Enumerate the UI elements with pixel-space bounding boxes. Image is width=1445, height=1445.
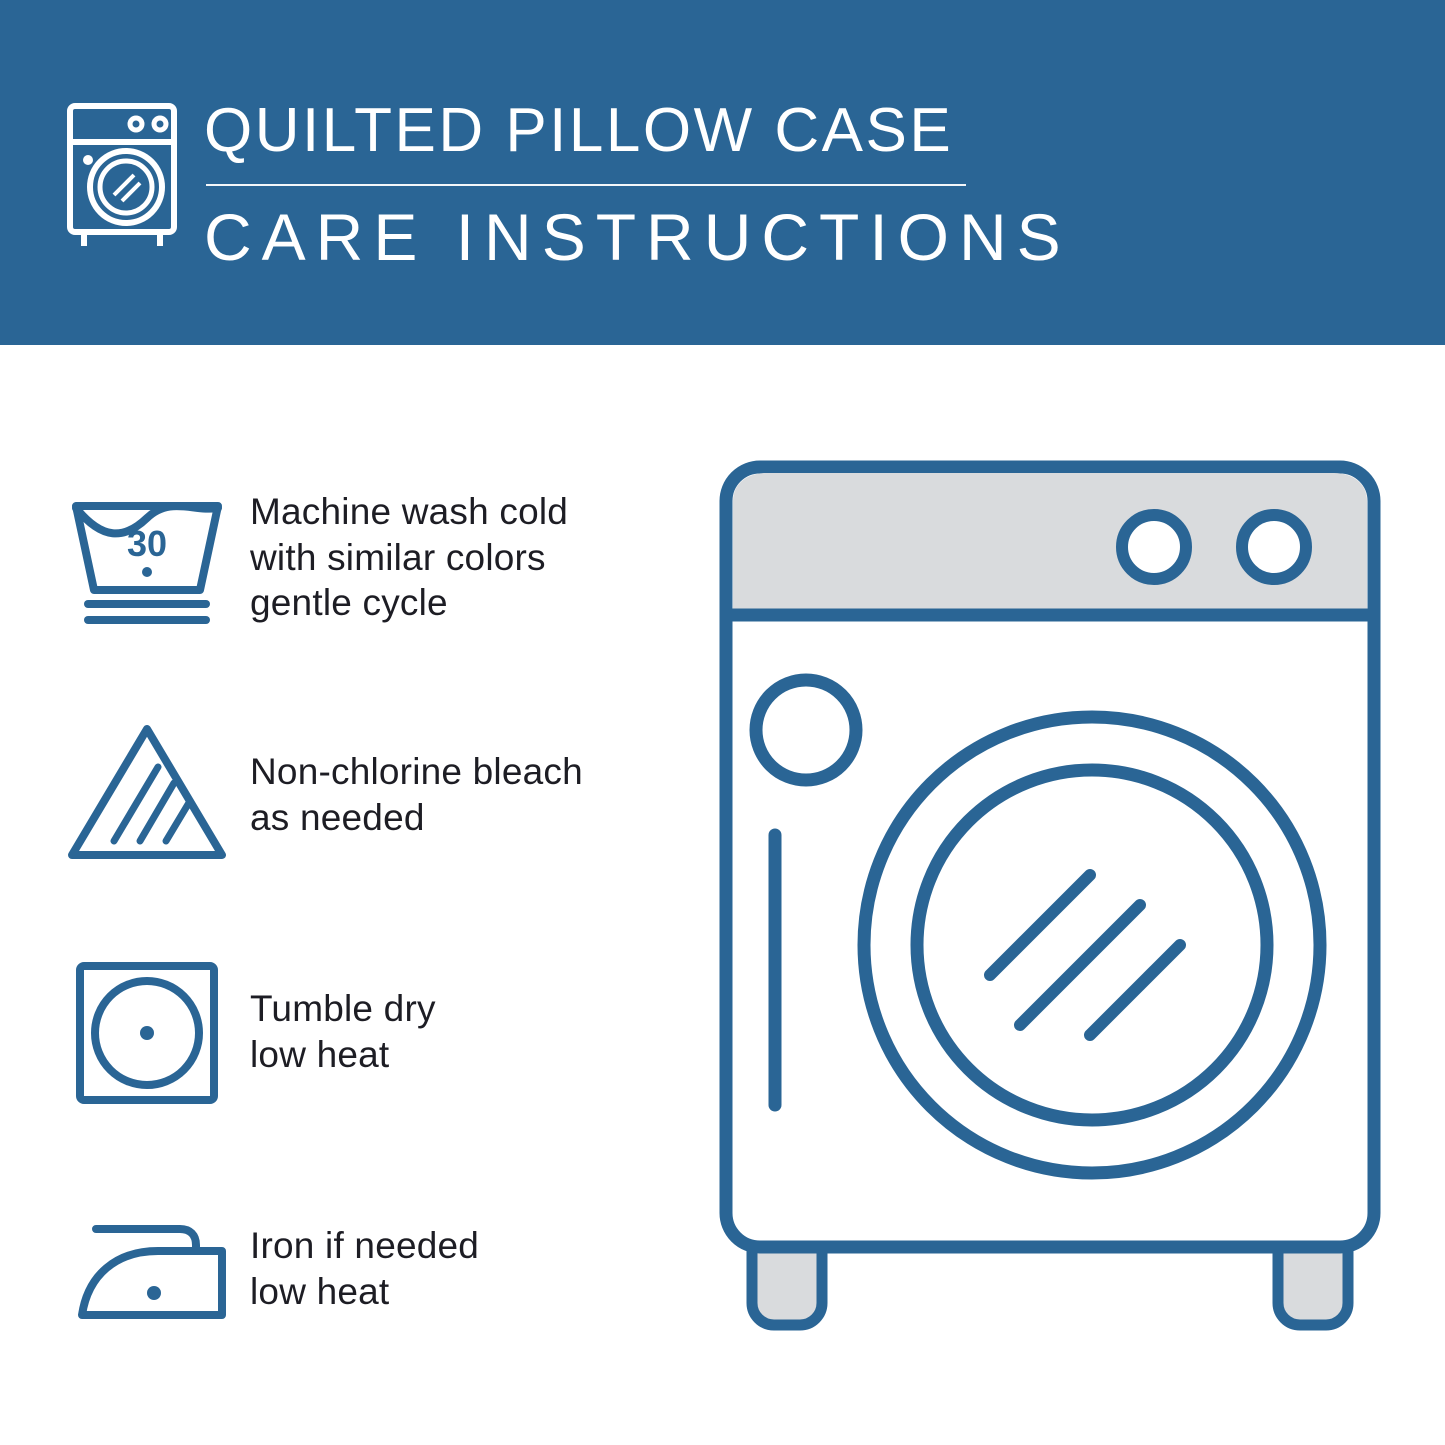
care-label-line: low heat <box>250 1269 479 1315</box>
page-subtitle: CARE INSTRUCTIONS <box>204 204 1071 270</box>
header-banner: QUILTED PILLOW CASE CARE INSTRUCTIONS <box>0 0 1445 345</box>
care-label-line: low heat <box>250 1032 436 1078</box>
detergent-knob <box>756 680 856 780</box>
header-titles: QUILTED PILLOW CASE CARE INSTRUCTIONS <box>204 92 1071 270</box>
title-divider <box>206 184 966 186</box>
care-label-line: Tumble dry <box>250 986 436 1032</box>
iron-icon <box>62 1186 232 1351</box>
care-label-line: as needed <box>250 795 583 841</box>
control-dial-right <box>1242 515 1306 579</box>
care-row-tumble-dry: Tumble dry low heat <box>62 949 702 1114</box>
care-label-line: Iron if needed <box>250 1223 479 1269</box>
header-content: QUILTED PILLOW CASE CARE INSTRUCTIONS <box>62 92 1071 270</box>
tumble-dry-icon <box>62 949 232 1114</box>
care-row-machine-wash: 30 Machine wash cold with similar colors… <box>62 475 702 640</box>
washing-machine-illustration <box>700 455 1400 1355</box>
care-label-line: with similar colors <box>250 535 568 581</box>
care-label-line: Machine wash cold <box>250 489 568 535</box>
care-label-tumble-dry: Tumble dry low heat <box>250 986 436 1077</box>
care-label-iron: Iron if needed low heat <box>250 1223 479 1314</box>
care-label-bleach: Non-chlorine bleach as needed <box>250 749 583 840</box>
body-area: 30 Machine wash cold with similar colors… <box>0 345 1445 1445</box>
wash-temperature-label: 30 <box>127 523 167 564</box>
control-dial-left <box>1122 515 1186 579</box>
care-label-line: gentle cycle <box>250 580 568 626</box>
washing-machine-icon <box>62 92 182 252</box>
wash-tub-icon: 30 <box>62 475 232 640</box>
care-label-line: Non-chlorine bleach <box>250 749 583 795</box>
care-label-machine-wash: Machine wash cold with similar colors ge… <box>250 489 568 626</box>
page-title: QUILTED PILLOW CASE <box>204 100 1071 162</box>
bleach-triangle-icon <box>62 712 232 877</box>
care-instructions-page: QUILTED PILLOW CASE CARE INSTRUCTIONS <box>0 0 1445 1445</box>
care-row-bleach: Non-chlorine bleach as needed <box>62 712 702 877</box>
care-instruction-list: 30 Machine wash cold with similar colors… <box>62 475 702 1423</box>
care-row-iron: Iron if needed low heat <box>62 1186 702 1351</box>
